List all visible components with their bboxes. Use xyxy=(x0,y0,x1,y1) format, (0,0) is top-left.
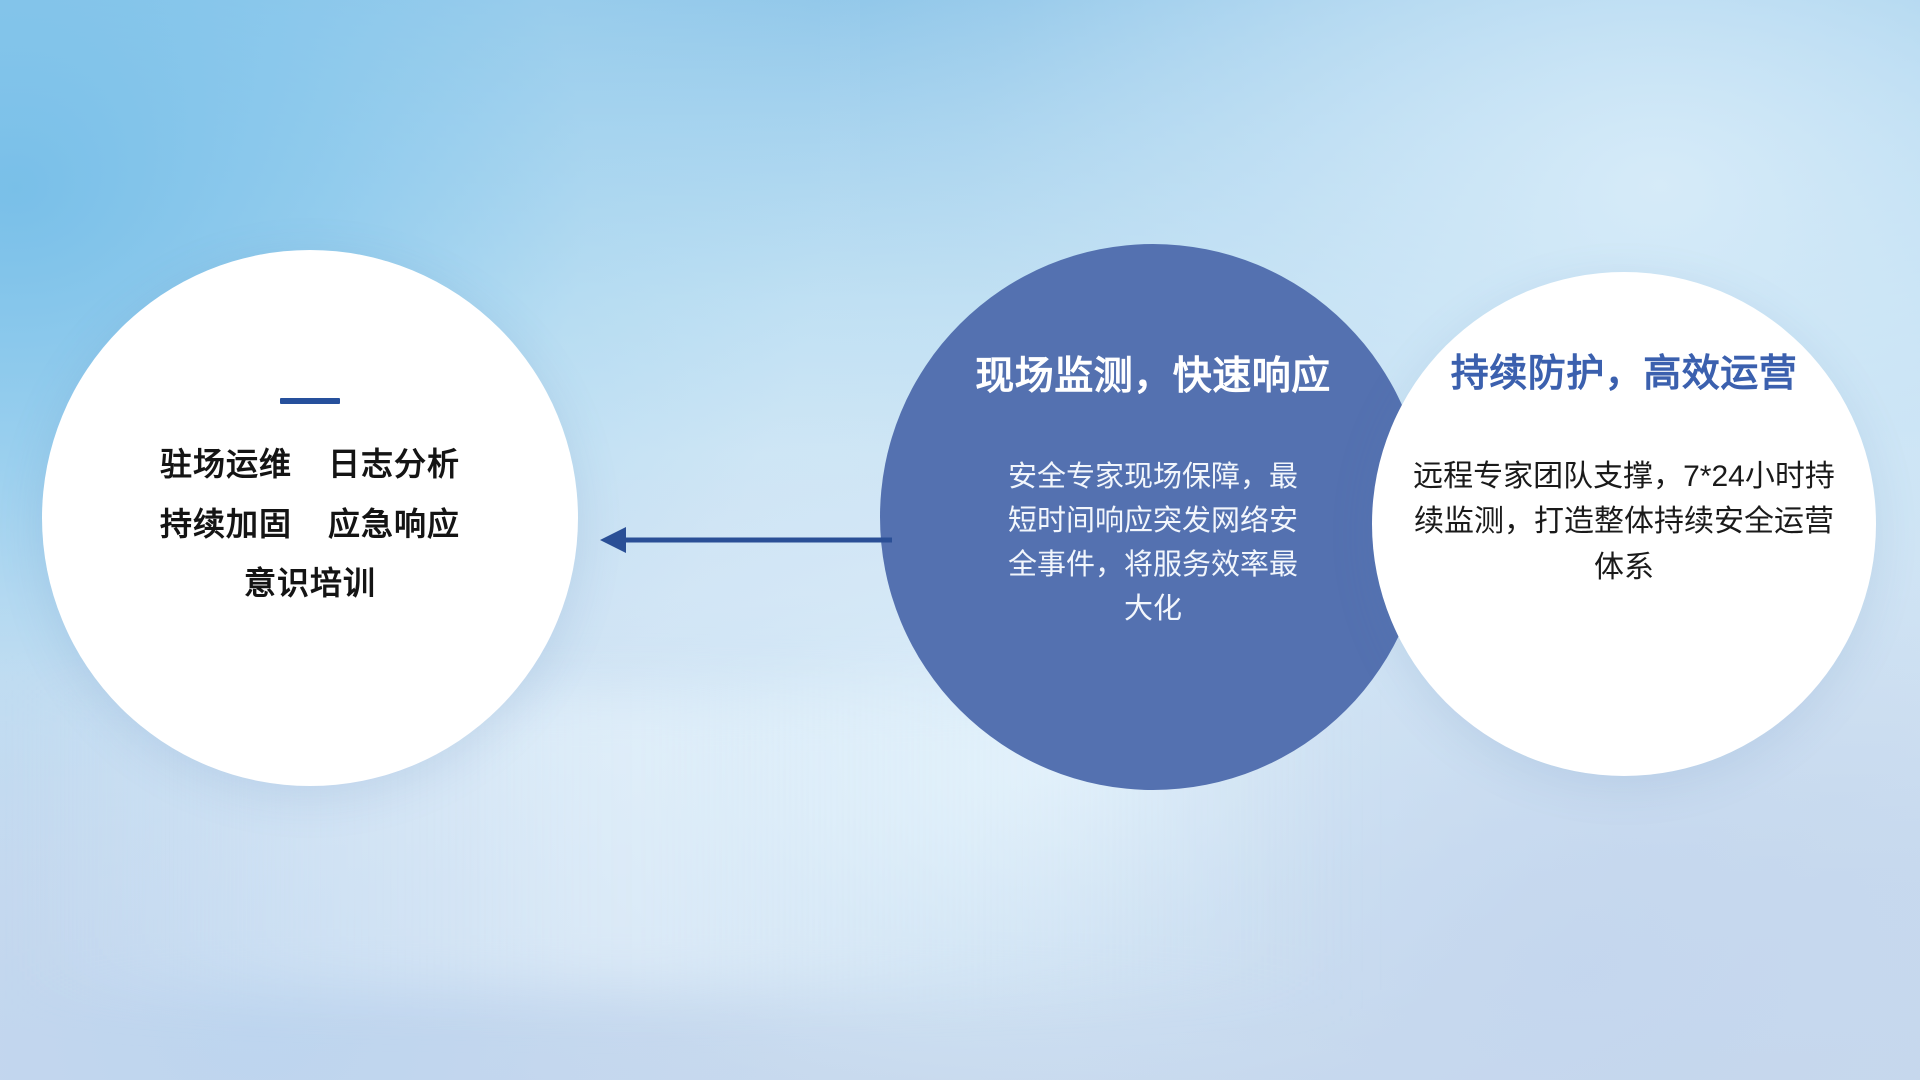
tag-row: 意识培训 xyxy=(244,567,376,601)
right-circle-title: 持续防护，高效运营 xyxy=(1451,354,1798,396)
tag-log-analysis: 日志分析 xyxy=(328,448,460,482)
diagram-canvas: 驻场运维 日志分析 持续加固 应急响应 意识培训 现场监测，快速响应 安全专家现… xyxy=(0,0,1920,1080)
arrow-mid-to-left-icon xyxy=(596,512,896,568)
middle-circle-title: 现场监测，快速响应 xyxy=(975,356,1331,399)
left-circle-tag-list: 驻场运维 日志分析 持续加固 应急响应 意识培训 xyxy=(160,448,460,601)
tag-row: 持续加固 应急响应 xyxy=(160,508,460,542)
left-circle-content: 驻场运维 日志分析 持续加固 应急响应 意识培训 xyxy=(42,250,578,786)
tag-awareness-training: 意识培训 xyxy=(244,567,376,601)
tag-row: 驻场运维 日志分析 xyxy=(160,448,460,482)
left-circle-divider xyxy=(280,398,340,404)
middle-circle-body: 安全专家现场保障，最短时间响应突发网络安全事件，将服务效率最大化 xyxy=(996,455,1310,631)
tag-continuous-hardening: 持续加固 xyxy=(160,508,292,542)
tag-onsite-ops: 驻场运维 xyxy=(160,448,292,482)
right-circle-content: 持续防护，高效运营 远程专家团队支撑，7*24小时持续监测，打造整体持续安全运营… xyxy=(1372,272,1876,776)
tag-emergency-response: 应急响应 xyxy=(328,508,460,542)
middle-circle-content: 现场监测，快速响应 安全专家现场保障，最短时间响应突发网络安全事件，将服务效率最… xyxy=(880,244,1426,790)
right-circle-body: 远程专家团队支撑，7*24小时持续监测，打造整体持续安全运营体系 xyxy=(1408,454,1840,591)
